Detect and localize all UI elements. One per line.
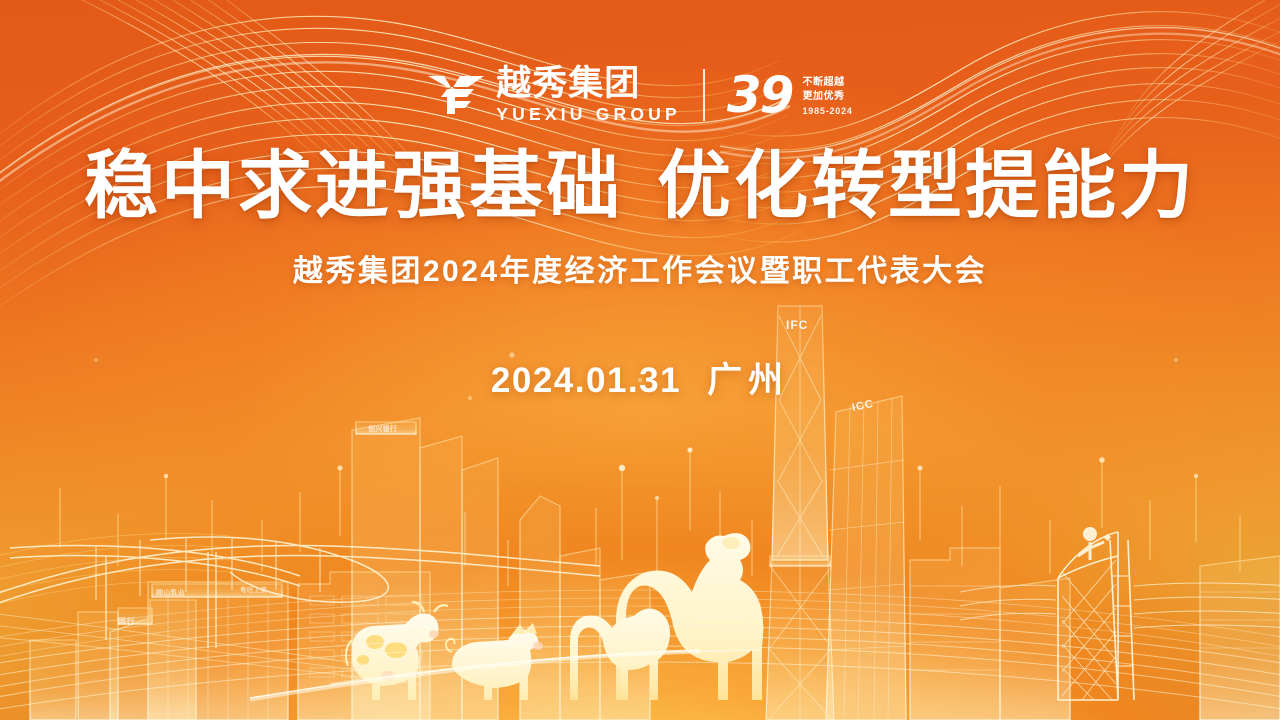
building-label-ifc: IFC bbox=[786, 318, 808, 332]
anniversary-slogan-line2: 更加优秀 bbox=[802, 91, 852, 104]
ye-monogram-icon bbox=[427, 73, 485, 117]
anniversary-slogan-line1: 不断超越 bbox=[802, 77, 852, 90]
anniversary-years: 1985-2024 bbox=[802, 106, 852, 117]
logo-divider bbox=[703, 69, 705, 121]
dairy-cow bbox=[346, 602, 448, 700]
event-date: 2024.01.31 bbox=[491, 361, 681, 400]
brand-lockup: 越秀集团 YUEXIU GROUP 39 不断超越 更加优秀 1985-2024 bbox=[0, 66, 1280, 124]
camel-calf bbox=[570, 609, 670, 700]
building-label-icc: ICC bbox=[851, 398, 875, 414]
main-title-left: 稳中求进强基础 bbox=[84, 146, 623, 228]
brand-name-en: YUEXIU GROUP bbox=[496, 105, 681, 124]
building-label-guohang: 国行 bbox=[118, 616, 135, 627]
anniversary-badge: 39 不断超越 更加优秀 1985-2024 bbox=[727, 70, 853, 120]
bridge-interchange bbox=[0, 537, 600, 648]
building-label-dairy: 辉山乳业 bbox=[156, 588, 185, 598]
poster-canvas: 越秀集团 YUEXIU GROUP 39 不断超越 更加优秀 1985-2024… bbox=[0, 0, 1280, 720]
brand-name-cn: 越秀集团 bbox=[496, 66, 681, 102]
event-city: 广州 bbox=[707, 361, 789, 400]
event-date-location: 2024.01.31广州 bbox=[0, 352, 1280, 403]
building-label-bank: 创兴银行 bbox=[368, 424, 397, 434]
anniversary-number: 39 bbox=[727, 70, 793, 120]
building-label-store: 粤旺上菜 bbox=[240, 584, 267, 594]
page-title: 稳中求进强基础优化转型提能力 bbox=[0, 150, 1280, 224]
brand-text-block: 越秀集团 YUEXIU GROUP bbox=[496, 66, 681, 124]
pig bbox=[446, 623, 543, 700]
anniversary-slogan: 不断超越 更加优秀 1985-2024 bbox=[802, 73, 852, 117]
subtitle: 越秀集团2024年度经济工作会议暨职工代表大会 bbox=[0, 246, 1280, 290]
camel-adult bbox=[616, 533, 763, 700]
main-title-right: 优化转型提能力 bbox=[657, 146, 1196, 228]
